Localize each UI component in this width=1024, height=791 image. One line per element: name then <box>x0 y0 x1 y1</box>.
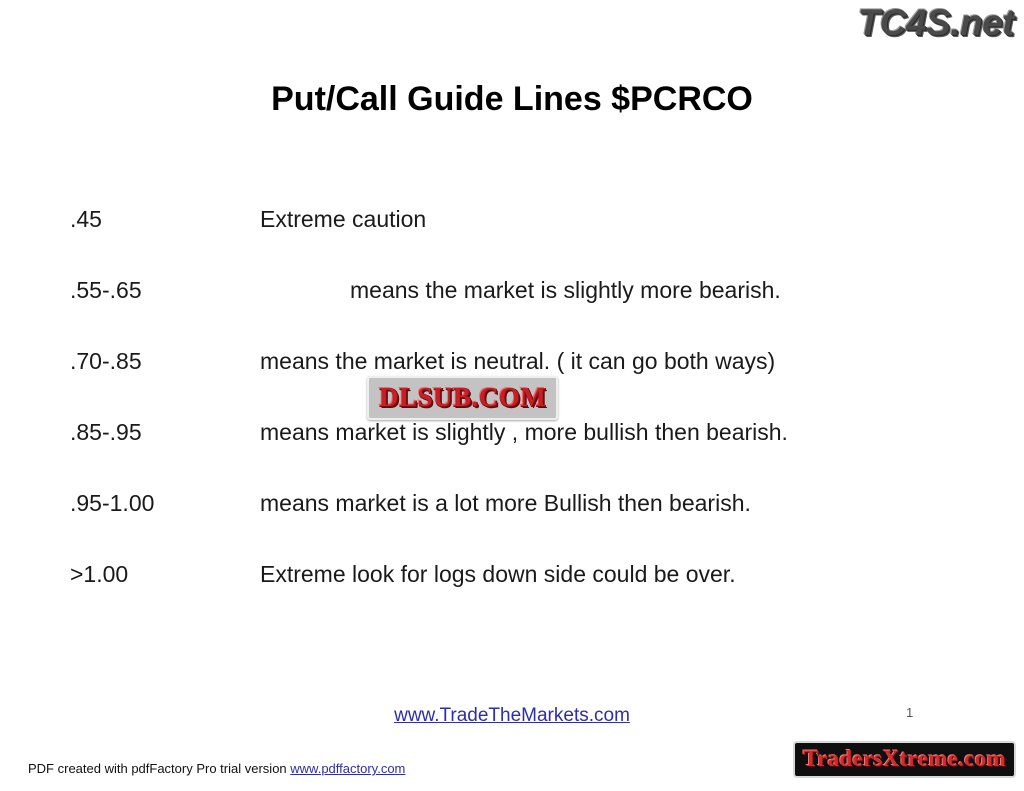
guide-description: Extreme caution <box>260 206 426 232</box>
guide-value: .85-.95 <box>70 416 260 449</box>
watermark-text: DLSUB.COM <box>379 382 546 412</box>
guide-value: .55-.65 <box>70 274 260 307</box>
guide-description: means market is a lot more Bullish then … <box>260 490 751 516</box>
guide-value: .95-1.00 <box>70 487 260 520</box>
list-item: .45Extreme caution <box>70 203 970 236</box>
guide-value: >1.00 <box>70 558 260 591</box>
guide-value: .45 <box>70 203 260 236</box>
guide-value: .70-.85 <box>70 345 260 378</box>
trade-the-markets-link[interactable]: www.TradeTheMarkets.com <box>394 705 630 726</box>
pdffactory-link[interactable]: www.pdffactory.com <box>290 761 405 776</box>
brand-tc4s-logo: TC4S.net <box>858 2 1014 44</box>
watermark-badge: DLSUB.COM <box>367 376 558 420</box>
list-item: .70-.85means the market is neutral. ( it… <box>70 345 970 378</box>
brand-tradersxtreme-logo: TradersXtreme.com <box>793 741 1016 778</box>
list-item: .55-.65means the market is slightly more… <box>70 274 970 307</box>
list-item: >1.00Extreme look for logs down side cou… <box>70 558 970 591</box>
list-item: .85-.95means market is slightly , more b… <box>70 416 970 449</box>
list-item: .95-1.00means market is a lot more Bulli… <box>70 487 970 520</box>
guide-description: means the market is neutral. ( it can go… <box>260 348 775 374</box>
footer-link[interactable]: www.TradeTheMarkets.com <box>0 705 1024 727</box>
guide-description: Extreme look for logs down side could be… <box>260 561 736 587</box>
slide-page: TC4S.net Put/Call Guide Lines $PCRCO .45… <box>0 0 1024 791</box>
page-title: Put/Call Guide Lines $PCRCO <box>0 80 1024 119</box>
pdf-notice-text: PDF created with pdfFactory Pro trial ve… <box>28 761 290 776</box>
guide-description: means the market is slightly more bearis… <box>260 277 781 303</box>
brand-tradersxtreme-text: TradersXtreme.com <box>803 746 1006 771</box>
page-number: 1 <box>906 705 913 720</box>
guide-description: means market is slightly , more bullish … <box>260 419 788 445</box>
pdf-factory-notice: PDF created with pdfFactory Pro trial ve… <box>28 761 405 776</box>
